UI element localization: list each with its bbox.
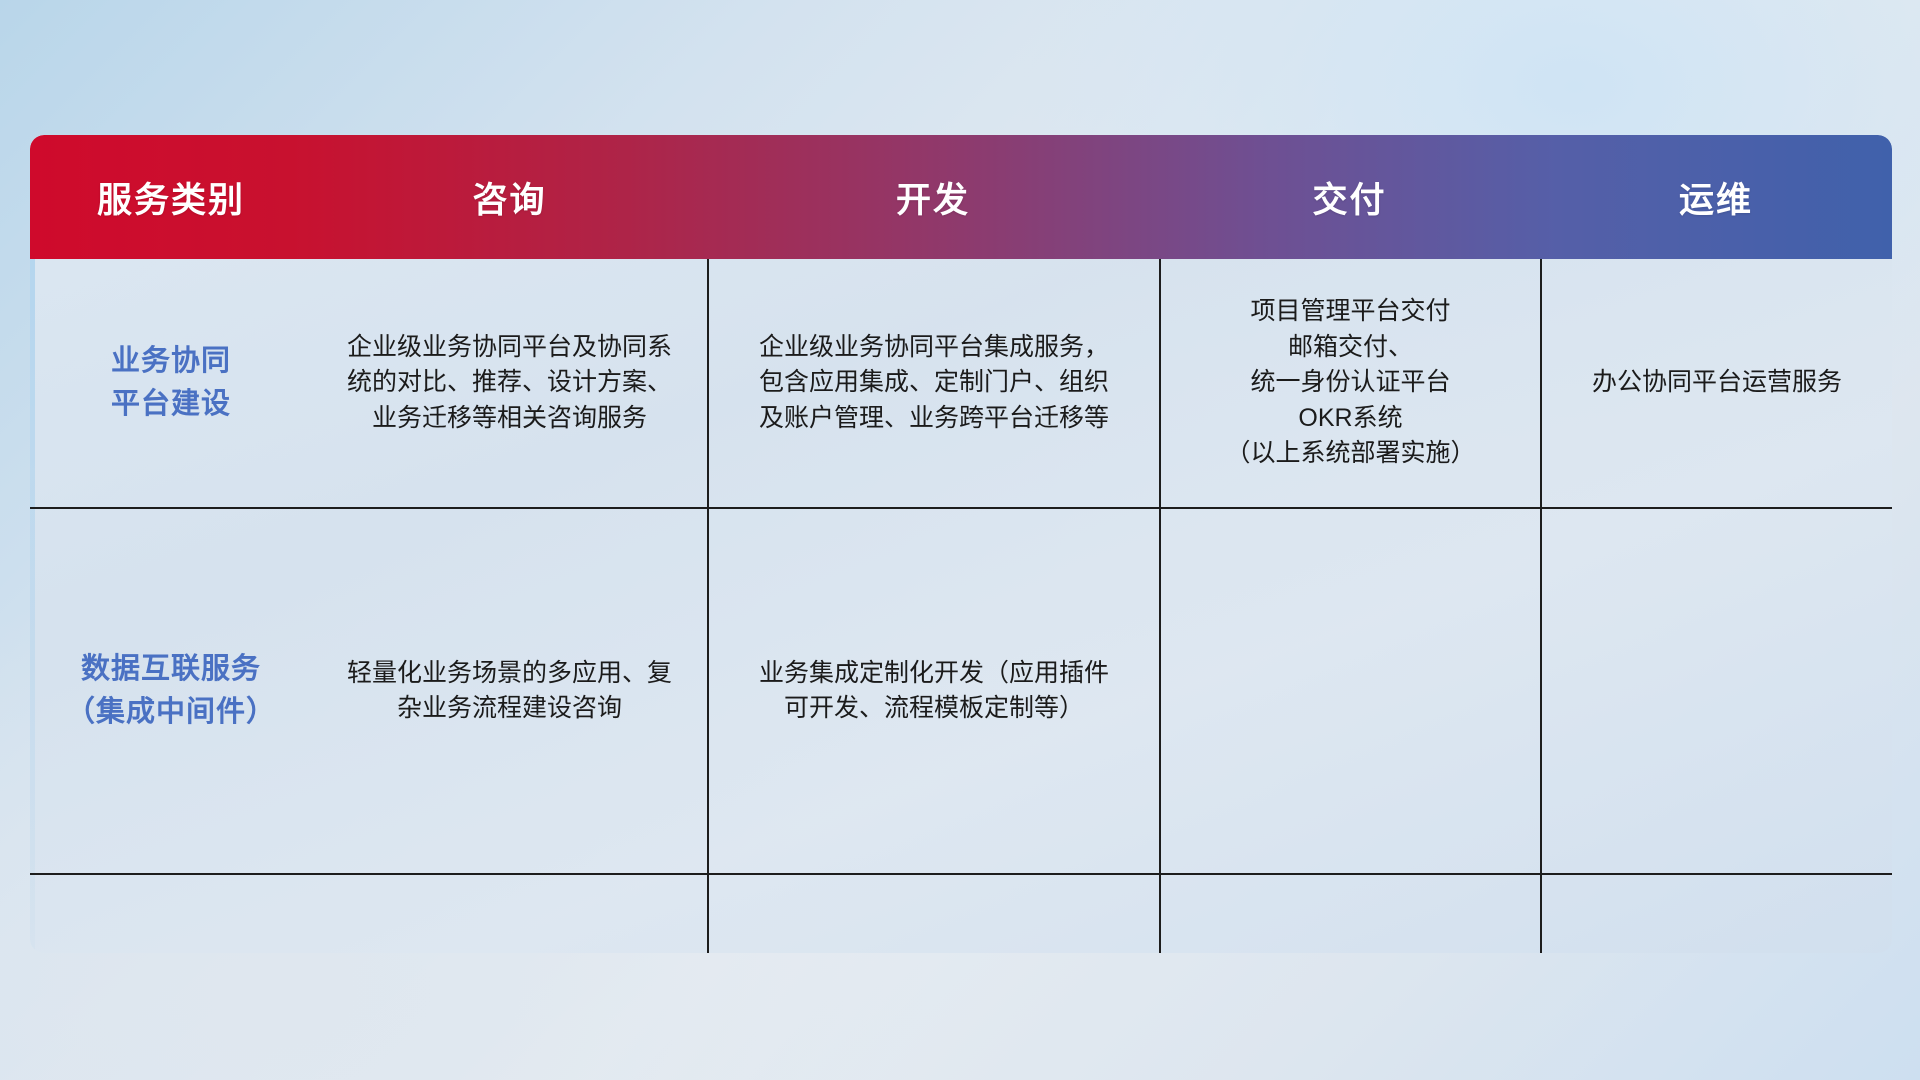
column-header-service-category: 服务类别: [30, 135, 312, 259]
cell-consulting: 轻量化业务场景的多应用、复 杂业务流程建设咨询: [312, 509, 707, 873]
table-row: 应用定制 低代码平台推荐及咨询 基于低代码开发平台的微应用定 制开发； 基于通过…: [30, 875, 1892, 953]
cell-delivery: [1159, 509, 1540, 873]
cell-operations: [1540, 509, 1892, 873]
slide-canvas: 服务类别 咨询 开发 交付 运维 业务协同 平台建设 企业级业务协同平台及协同系…: [0, 0, 1920, 1080]
cell-development: 企业级业务协同平台集成服务， 包含应用集成、定制门户、组织 及账户管理、业务跨平…: [707, 259, 1159, 507]
cell-development: 业务集成定制化开发（应用插件 可开发、流程模板定制等）: [707, 509, 1159, 873]
cell-consulting: 企业级业务协同平台及协同系 统的对比、推荐、设计方案、 业务迁移等相关咨询服务: [312, 259, 707, 507]
cell-service-category: 数据互联服务 （集成中间件）: [30, 509, 312, 873]
table-row: 业务协同 平台建设 企业级业务协同平台及协同系 统的对比、推荐、设计方案、 业务…: [30, 259, 1892, 509]
table-header-row: 服务类别 咨询 开发 交付 运维: [30, 135, 1892, 259]
cell-operations: 办公协同平台运营服务: [1540, 259, 1892, 507]
table-row: 数据互联服务 （集成中间件） 轻量化业务场景的多应用、复 杂业务流程建设咨询 业…: [30, 509, 1892, 875]
column-header-label: 交付: [1312, 172, 1386, 223]
column-header-label: 运维: [1679, 172, 1753, 223]
service-matrix-table: 服务类别 咨询 开发 交付 运维 业务协同 平台建设 企业级业务协同平台及协同系…: [30, 135, 1892, 953]
table-body: 业务协同 平台建设 企业级业务协同平台及协同系 统的对比、推荐、设计方案、 业务…: [30, 259, 1892, 953]
cell-delivery: 项目管理平台交付 邮箱交付、 统一身份认证平台 OKR系统 （以上系统部署实施）: [1159, 259, 1540, 507]
column-header-development: 开发: [707, 135, 1159, 259]
cell-delivery: 应用分发及管理: [1159, 875, 1540, 953]
cell-consulting: 低代码平台推荐及咨询: [312, 875, 707, 953]
column-header-operations: 运维: [1540, 135, 1892, 259]
cell-development: 基于低代码开发平台的微应用定 制开发； 基于通过语言的微应用定制开发: [707, 875, 1159, 953]
column-header-delivery: 交付: [1159, 135, 1540, 259]
column-header-consulting: 咨询: [312, 135, 707, 259]
cell-service-category: 业务协同 平台建设: [30, 259, 312, 507]
column-header-label: 咨询: [472, 172, 546, 223]
cell-operations: [1540, 875, 1892, 953]
column-header-label: 服务类别: [97, 172, 245, 223]
column-header-label: 开发: [896, 172, 970, 223]
cell-service-category: 应用定制: [30, 875, 312, 953]
